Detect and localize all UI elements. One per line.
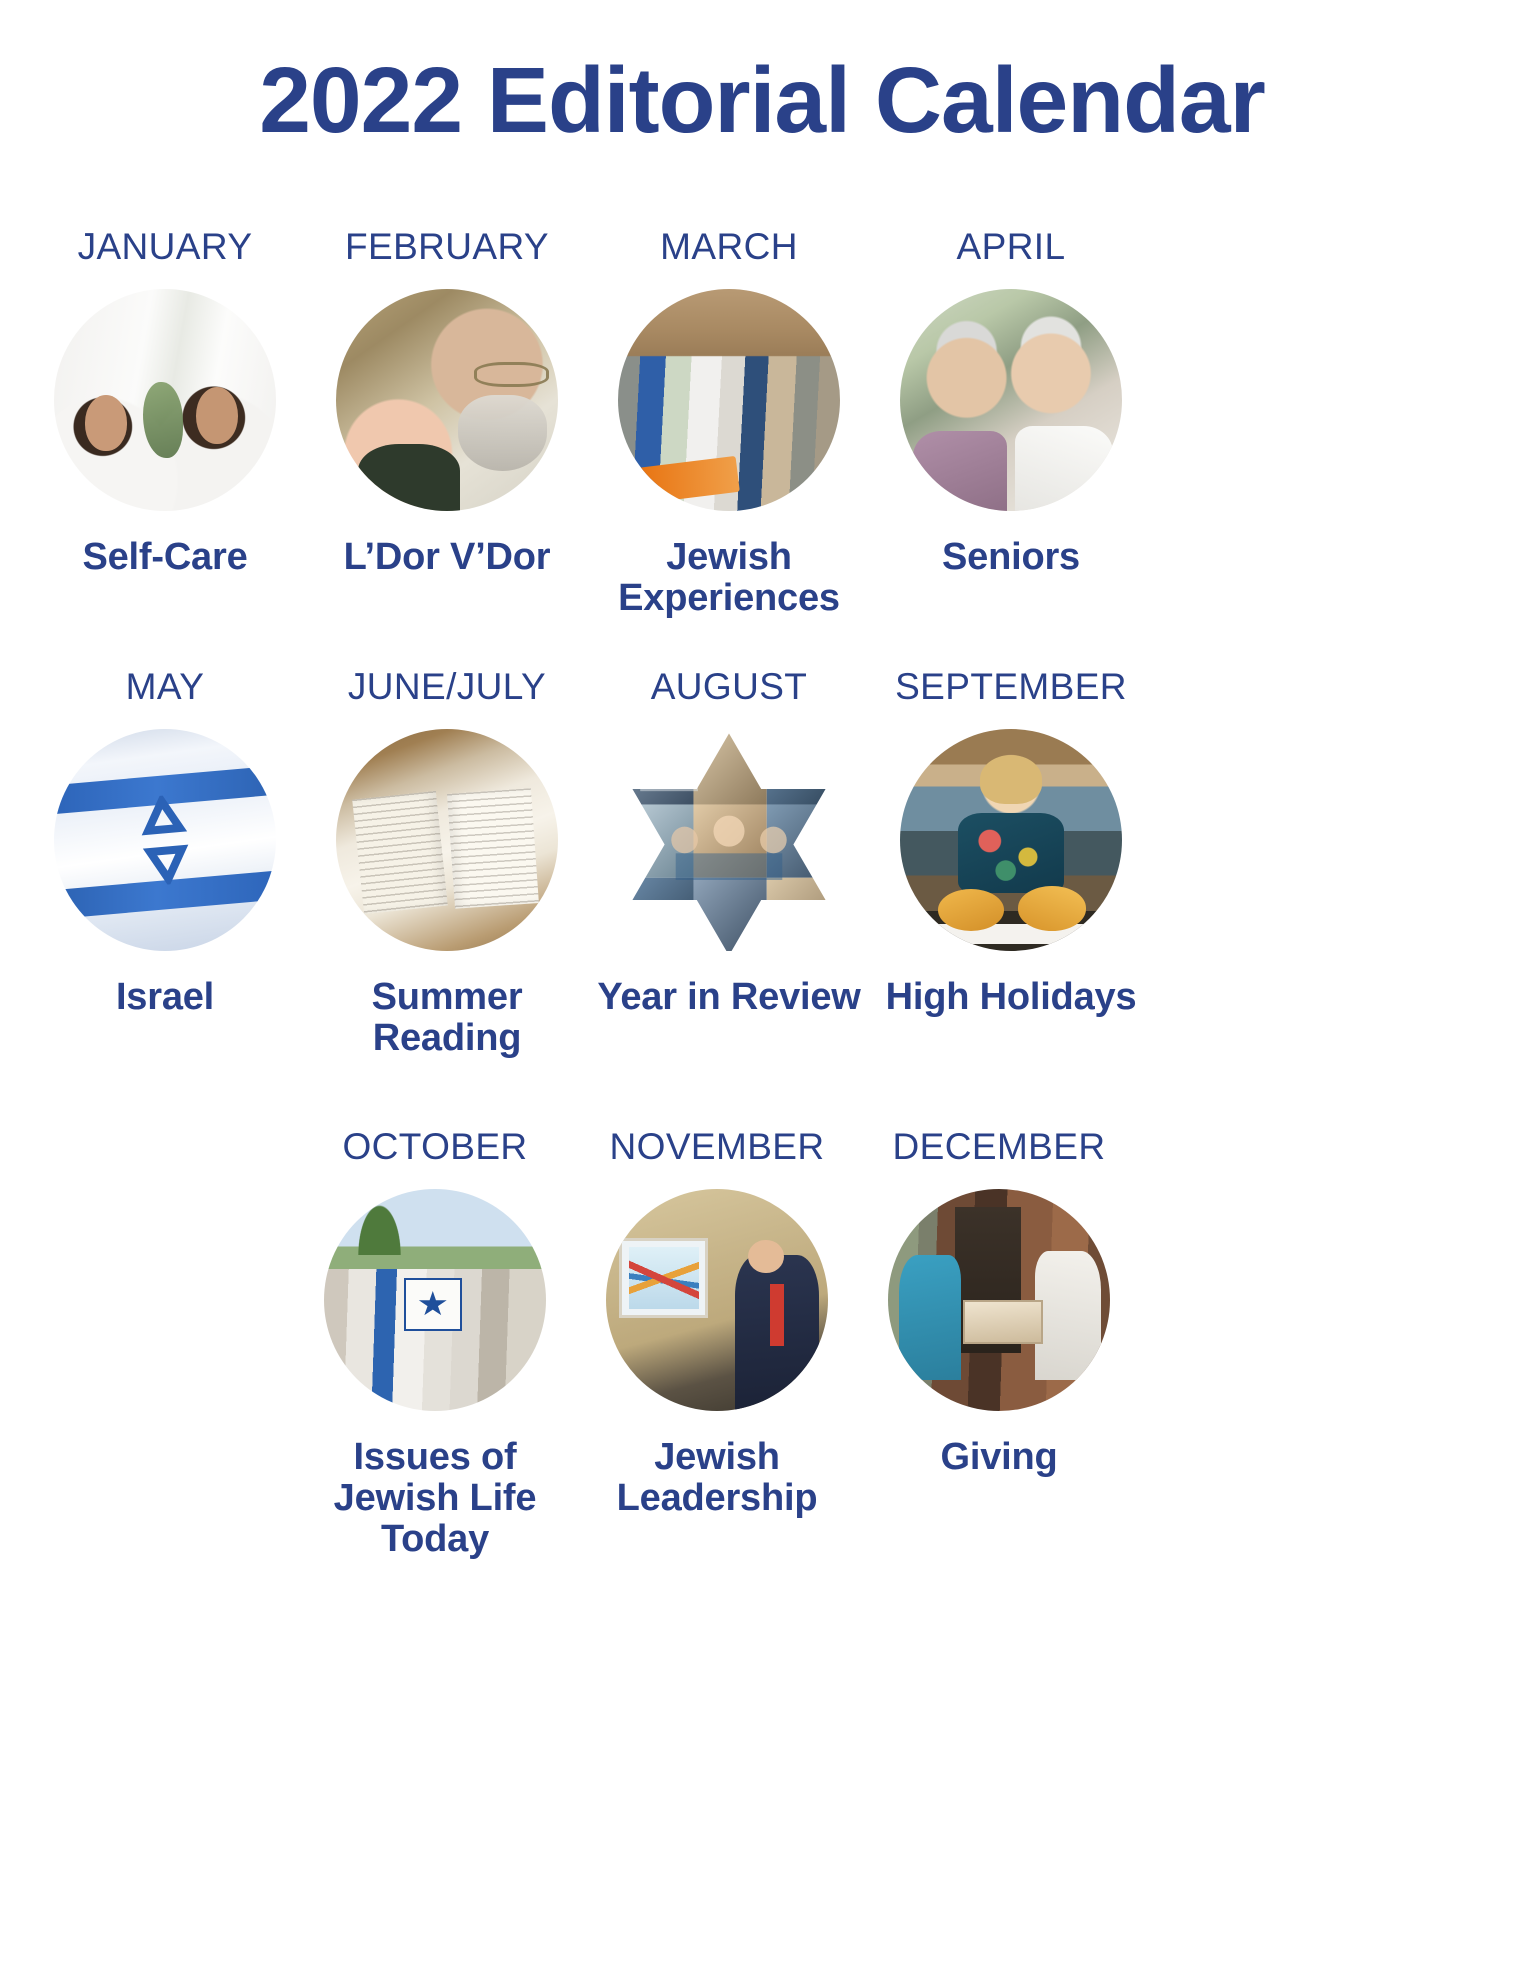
calendar-cell-april[interactable]: APRIL Seniors [876,228,1146,619]
decor-book-page-right [448,788,540,909]
calendar-row-2: MAY Israel JUNE/JULY [0,668,1524,1059]
photo-wrap-august [618,729,840,951]
month-label-september: SEPTEMBER [895,668,1127,707]
photo-wrap-september [900,729,1122,951]
decor-protest-sign [404,1278,462,1331]
photo-self-care [54,289,276,511]
decor-head [748,1240,784,1273]
decor-tray [922,924,1100,944]
photo-jewish-leadership [606,1189,828,1411]
photo-issues-of-jewish-life [324,1189,546,1411]
decor-challah-right [1018,886,1087,930]
photo-wrap-april [900,289,1122,511]
decor-recipient [1035,1251,1102,1380]
decor-text-lines [448,788,540,909]
theme-label-december: Giving [940,1437,1057,1478]
month-label-november: NOVEMBER [610,1128,825,1167]
photo-summer-reading [336,729,558,951]
decor-shirt-left [913,431,1006,511]
decor-red-tie [770,1284,783,1346]
theme-label-may: Israel [116,977,214,1018]
decor-book-page-left [352,791,448,915]
month-label-october: OCTOBER [342,1128,527,1167]
decor-beard [458,395,547,470]
photo-giving [888,1189,1110,1411]
month-label-may: MAY [126,668,205,707]
decor-face-left [85,395,127,451]
month-label-december: DECEMBER [893,1128,1106,1167]
theme-label-september: High Holidays [886,977,1137,1018]
star-of-david-icon [117,792,213,888]
theme-label-august: Year in Review [597,977,860,1018]
photo-wrap-january [54,289,276,511]
photo-seniors [900,289,1122,511]
calendar-cell-september[interactable]: SEPTEMBER High Holidays [876,668,1146,1059]
photo-wrap-may [54,729,276,951]
theme-label-november: Jewish Leadership [582,1437,852,1519]
theme-label-january: Self-Care [82,537,247,578]
calendar-cell-october[interactable]: OCTOBER Issues of Jewish Life Today [300,1128,570,1560]
decor-glasses [474,362,549,386]
decor-challah-left [938,889,1005,931]
month-label-february: FEBRUARY [345,228,549,267]
photo-wrap-february [336,289,558,511]
photo-jewish-experiences [618,289,840,511]
month-label-june-july: JUNE/JULY [348,668,546,707]
photo-high-holidays [900,729,1122,951]
calendar-cell-november[interactable]: NOVEMBER Jewish Leadership [582,1128,852,1560]
photo-wrap-december [888,1189,1110,1411]
calendar-cell-january[interactable]: JANUARY Self-Care [30,228,300,619]
calendar-cell-august[interactable]: AUGUST [594,668,864,1059]
theme-label-june-july: Summer Reading [312,977,582,1059]
decor-donation-box [963,1300,1043,1344]
theme-label-april: Seniors [942,537,1080,578]
photo-wrap-october [324,1189,546,1411]
calendar-cell-may[interactable]: MAY Israel [30,668,300,1059]
month-label-april: APRIL [957,228,1066,267]
photo-wrap-november [606,1189,828,1411]
page-title: 2022 Editorial Calendar [0,52,1524,150]
editorial-calendar-page: 2022 Editorial Calendar JANUARY Self-Car… [0,0,1524,1972]
decor-face-right [196,387,238,445]
photo-ldor-vdor [336,289,558,511]
photo-wrap-march [618,289,840,511]
photo-year-in-review-star-collage [618,729,840,951]
theme-label-october: Issues of Jewish Life Today [300,1437,570,1560]
decor-palm-tree [355,1198,404,1256]
decor-volunteer [899,1255,961,1379]
decor-baby-bib [358,444,460,511]
calendar-row-3: OCTOBER Issues of Jewish Life Today NOVE… [0,1128,1524,1560]
decor-sailboat-painting [619,1238,708,1318]
month-label-march: MARCH [660,228,798,267]
decor-floral-dress [958,813,1065,893]
calendar-cell-june-july[interactable]: JUNE/JULY Summer Reading [312,668,582,1059]
calendar-cell-february[interactable]: FEBRUARY L’Dor V’Dor [312,228,582,619]
calendar-cell-december[interactable]: DECEMBER Giving [864,1128,1134,1560]
month-label-august: AUGUST [651,668,808,707]
month-label-january: JANUARY [78,228,253,267]
decor-shirt-right [1015,426,1113,510]
photo-wrap-june-july [336,729,558,951]
decor-text-lines [352,791,448,915]
photo-israel-flag [54,729,276,951]
decor-hair [980,755,1042,804]
calendar-row-1: JANUARY Self-Care FEBRUARY L’Dor V’Dor [0,228,1524,619]
theme-label-february: L’Dor V’Dor [344,537,551,578]
calendar-cell-march[interactable]: MARCH Jewish Experiences [594,228,864,619]
theme-label-march: Jewish Experiences [594,537,864,619]
